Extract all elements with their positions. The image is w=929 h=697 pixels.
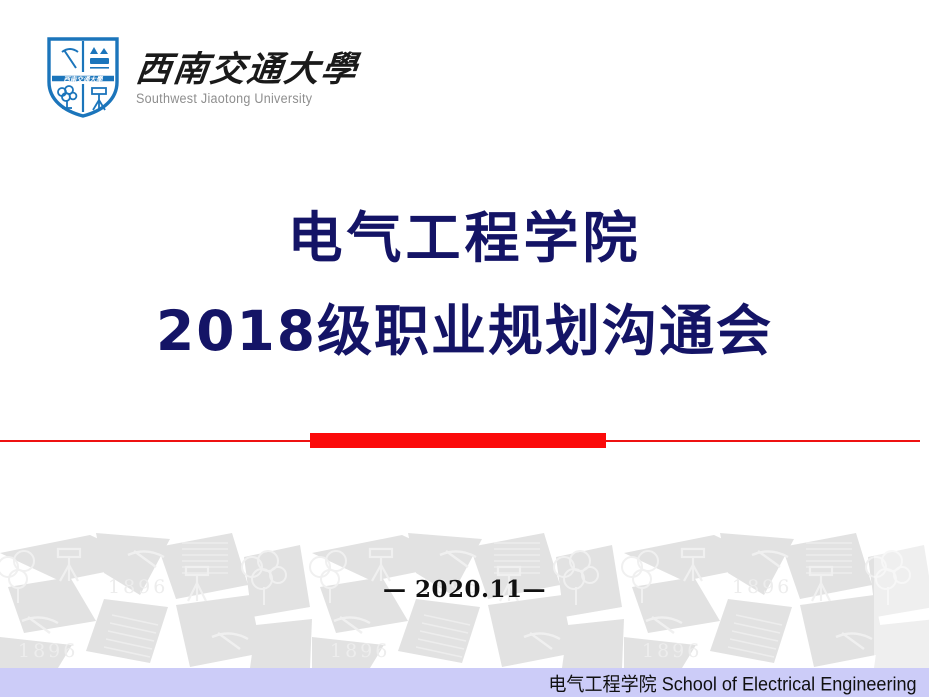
page-subtitle: 2018级职业规划沟通会: [0, 299, 929, 364]
title-block: 电气工程学院 2018级职业规划沟通会: [0, 206, 929, 364]
university-wordmark: 西南交通大學 Southwest Jiaotong University: [136, 48, 358, 107]
university-logo: 西南交通大學 西南交通大學 Southwest Jiaotong Univers…: [44, 34, 358, 120]
shield-crest-icon: 西南交通大學: [44, 34, 122, 120]
footer-bar: 电气工程学院 School of Electrical Engineering: [0, 668, 929, 697]
divider-accent-bar: [310, 433, 606, 448]
event-date: — 2020.11—: [0, 576, 929, 603]
footer-department-label: 电气工程学院 School of Electrical Engineering: [549, 669, 917, 696]
svg-text:西南交通大學: 西南交通大學: [64, 75, 105, 83]
university-name-cn: 西南交通大學: [134, 52, 361, 89]
university-name-en: Southwest Jiaotong University: [136, 91, 342, 106]
page-title: 电气工程学院: [0, 206, 929, 271]
presentation-title-slide: 西南交通大學 西南交通大學 Southwest Jiaotong Univers…: [0, 0, 929, 697]
